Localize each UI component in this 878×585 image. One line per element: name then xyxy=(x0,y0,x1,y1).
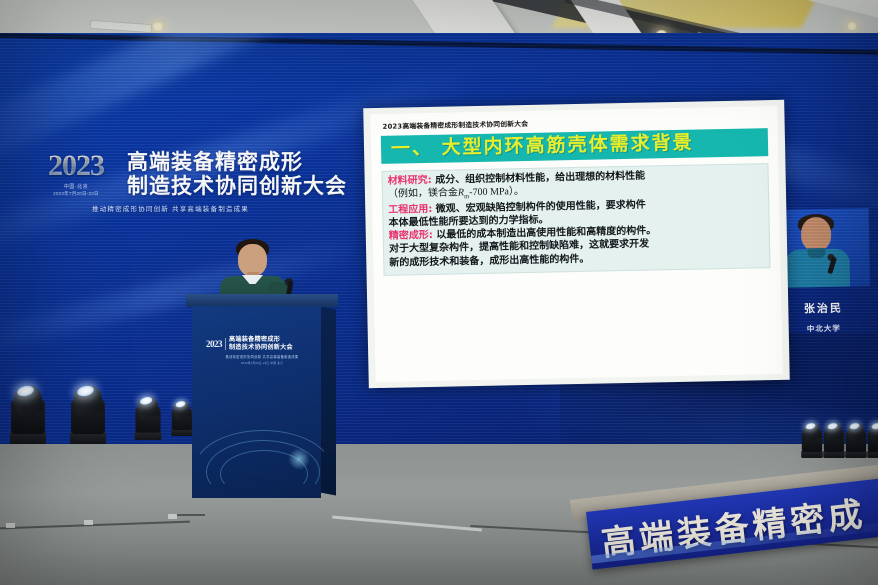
podium-face: 2023 高端装备精密成形制造技术协同创新大会 推动精密成形协同创新 共享高端装… xyxy=(192,306,321,498)
slide-line-label: 工程应用: xyxy=(388,204,432,216)
slide-line-label: 精密成形: xyxy=(389,230,433,242)
moving-head-light xyxy=(8,382,48,444)
podium-glow xyxy=(288,448,310,470)
speaker-collar xyxy=(807,248,825,258)
podium-tagline: 推动精密成形协同创新 共享高端装备制造成果 xyxy=(206,354,318,359)
branding-tagline: 推动精密成形协同创新 共享高端装备制造成果 xyxy=(92,203,336,213)
branding-line-2: 制造技术协同创新大会 xyxy=(127,175,347,199)
podium-subline: 2023年7月20日-22日 中国·北京 xyxy=(206,361,318,365)
moving-head-light xyxy=(844,421,868,458)
cable-tape xyxy=(168,514,177,519)
slide-title: 一、 大型内环高筋壳体需求背景 xyxy=(381,128,768,164)
moving-head-light xyxy=(822,421,846,458)
ceiling-air-slot xyxy=(90,20,152,33)
floor-cable xyxy=(0,521,190,530)
podium: 2023 高端装备精密成形制造技术协同创新大会 推动精密成形协同创新 共享高端装… xyxy=(186,294,338,504)
moving-head-light xyxy=(800,421,824,458)
branding-city: 中国·北京 xyxy=(36,183,116,190)
branding-date: 2023年7月20日-22日 xyxy=(36,191,116,197)
formula-rest: -700 MPa）。 xyxy=(469,186,524,198)
moving-head-light xyxy=(866,421,878,458)
branding-year: 2023 xyxy=(36,151,116,181)
conference-branding: 2023 中国·北京 2023年7月20日-22日 高端装备精密成形 制造技术协… xyxy=(36,151,336,213)
podium-branding: 2023 高端装备精密成形制造技术协同创新大会 推动精密成形协同创新 共享高端装… xyxy=(206,336,318,365)
slide-line-text: （例如，镁合金 xyxy=(388,188,458,200)
downlight-icon xyxy=(846,22,858,30)
cable-tape xyxy=(84,520,93,525)
light-lens-icon xyxy=(871,422,878,430)
slide-body: 材料研究: 成分、组织控制材料性能，给出理想的材料性能 （例如，镁合金Rm-70… xyxy=(381,163,770,276)
presentation-slide: 2023高端装备精密成形制造技术协同创新大会 一、 大型内环高筋壳体需求背景 材… xyxy=(363,100,790,388)
cable-tape xyxy=(6,523,15,528)
slide-line-label: 材料研究: xyxy=(388,175,432,187)
podium-line-2: 制造技术协同创新大会 xyxy=(229,344,293,351)
moving-head-light xyxy=(133,394,163,440)
floor-cable xyxy=(332,515,482,531)
podium-divider xyxy=(225,338,226,350)
slide-line-text: 新的成形技术和装备，成形出高性能的构件。 xyxy=(389,253,589,268)
downlight-icon xyxy=(151,22,165,31)
conference-photo: 2023 中国·北京 2023年7月20日-22日 高端装备精密成形 制造技术协… xyxy=(0,0,878,585)
branding-line-1: 高端装备精密成形 xyxy=(127,151,347,175)
floor-cable xyxy=(175,514,205,516)
speaker-head xyxy=(801,217,832,252)
branding-year-block: 2023 中国·北京 2023年7月20日-22日 xyxy=(36,151,116,197)
slide-kicker: 2023高端装备精密成形制造技术协同创新大会 xyxy=(382,113,769,131)
podium-year: 2023 xyxy=(206,339,222,349)
wall-top-edge xyxy=(0,33,878,55)
moving-head-light xyxy=(68,382,108,444)
podium-line-1: 高端装备精密成形 xyxy=(229,336,280,343)
